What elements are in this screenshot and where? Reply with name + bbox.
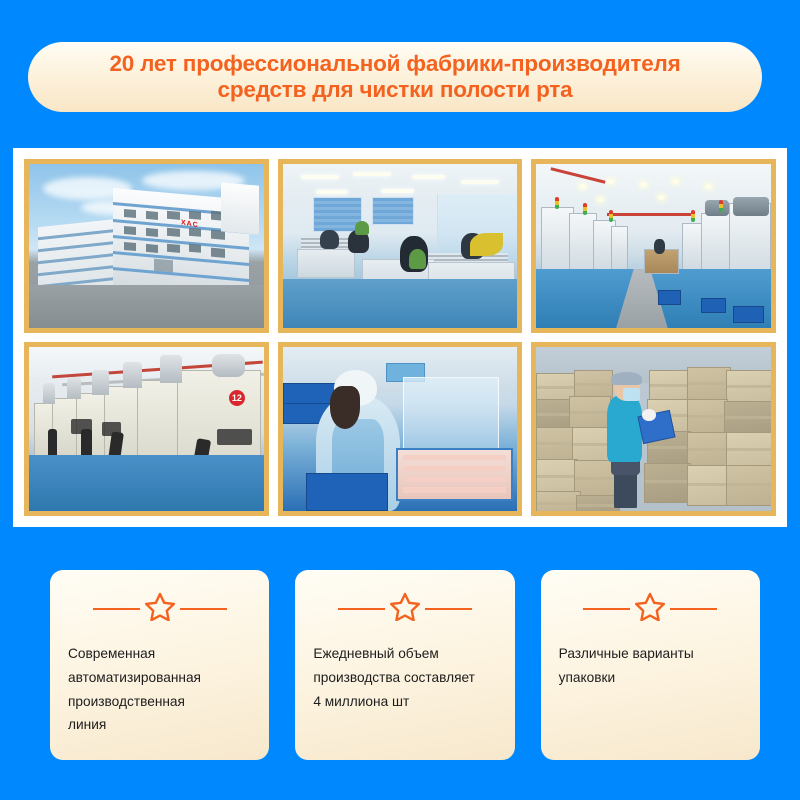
divider-line-left xyxy=(93,608,140,610)
production-line-hall-image xyxy=(536,164,771,328)
divider-line-left xyxy=(338,608,385,610)
photo-gallery-panel: XAC xyxy=(13,148,787,527)
header-banner: 20 лет профессиональной фабрики-производ… xyxy=(28,42,762,112)
warehouse-boxes-inspection-image xyxy=(536,347,771,511)
card-divider-3 xyxy=(559,594,742,624)
banner-title: 20 лет профессиональной фабрики-производ… xyxy=(109,51,680,103)
card-divider-1 xyxy=(68,594,251,624)
star-icon xyxy=(145,592,175,626)
gallery-photo-6[interactable] xyxy=(531,342,776,516)
gallery-photo-4[interactable]: 12 xyxy=(24,342,269,516)
worker-packing-station-image xyxy=(283,347,518,511)
feature-card-3-text: Различные варианты упаковки xyxy=(559,642,742,690)
injection-molding-machines-image: 12 xyxy=(29,347,264,511)
feature-card-2[interactable]: Ежедневный объем производства составляет… xyxy=(295,570,514,760)
card-divider-2 xyxy=(313,594,496,624)
star-icon xyxy=(635,592,665,626)
feature-cards: Современная автоматизированная производс… xyxy=(50,570,760,760)
divider-line-left xyxy=(583,608,630,610)
gallery-photo-2[interactable] xyxy=(278,159,523,333)
office-cubicles-image xyxy=(283,164,518,328)
divider-line-right xyxy=(670,608,717,610)
feature-card-3[interactable]: Различные варианты упаковки xyxy=(541,570,760,760)
feature-card-2-text: Ежедневный объем производства составляет… xyxy=(313,642,496,713)
divider-line-right xyxy=(180,608,227,610)
gallery-photo-3[interactable] xyxy=(531,159,776,333)
divider-line-right xyxy=(425,608,472,610)
machine-number-badge: 12 xyxy=(229,390,245,406)
factory-building-exterior-image: XAC xyxy=(29,164,264,328)
star-icon xyxy=(390,592,420,626)
feature-card-1[interactable]: Современная автоматизированная производс… xyxy=(50,570,269,760)
feature-card-1-text: Современная автоматизированная производс… xyxy=(68,642,251,737)
gallery-photo-5[interactable] xyxy=(278,342,523,516)
gallery-photo-1[interactable]: XAC xyxy=(24,159,269,333)
